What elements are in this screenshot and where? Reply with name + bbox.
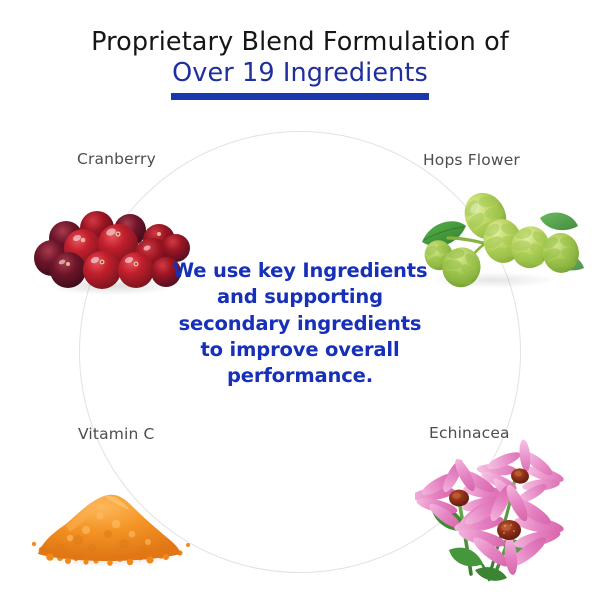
heading-underline-rule	[171, 93, 429, 100]
vitamin-c-powder-image	[20, 458, 196, 578]
hops-cone-image	[420, 186, 588, 298]
heading-line-2-highlight: Over 19 Ingredients	[0, 59, 600, 88]
ingredient-label-hops-flower: Hops Flower	[423, 151, 520, 169]
proprietary-blend-infographic: Proprietary Blend Formulation of Over 19…	[0, 0, 600, 600]
ingredient-label-cranberry: Cranberry	[77, 150, 156, 168]
echinacea-flower-image	[415, 438, 595, 590]
heading-line-1: Proprietary Blend Formulation of	[0, 28, 600, 57]
ingredient-label-vitamin-c: Vitamin C	[78, 425, 154, 443]
center-statement-text: We use key Ingredients and supporting se…	[165, 258, 435, 390]
heading-block: Proprietary Blend Formulation of Over 19…	[0, 28, 600, 100]
